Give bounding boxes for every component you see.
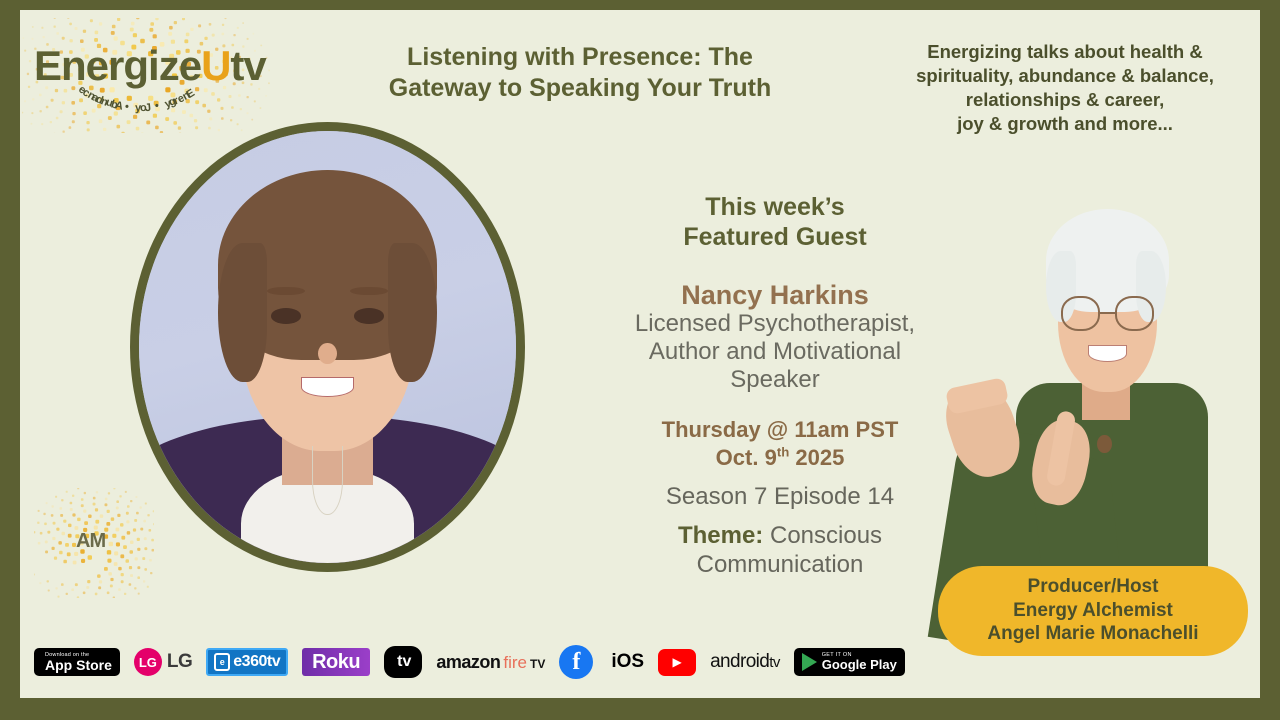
am-monogram-text: AM xyxy=(76,530,105,553)
host-smile xyxy=(1088,345,1127,361)
badge-roku[interactable]: Roku xyxy=(302,648,370,676)
roku-label: Roku xyxy=(302,648,370,676)
guest-role-line-3: Speaker xyxy=(570,366,980,394)
logo-text-u: U xyxy=(201,42,230,89)
e360tv-icon: e xyxy=(214,653,230,671)
air-time: Thursday @ 11am PST xyxy=(590,416,970,444)
host-lens-right xyxy=(1115,296,1154,331)
logo-text-tv: tv xyxy=(230,42,265,89)
ios-label: iOS xyxy=(611,651,644,673)
facebook-icon: f xyxy=(559,645,593,679)
portrait-smile xyxy=(301,377,354,396)
badge-android-tv[interactable]: androidtv xyxy=(710,651,780,673)
poster-canvas: EnergizeUtv Energy•Joy•Abundance Listeni… xyxy=(20,10,1260,698)
host-badge-line-1: Producer/Host xyxy=(950,575,1236,598)
host-lens-left xyxy=(1061,296,1100,331)
portrait-eye-right xyxy=(354,308,384,324)
portrait-brow-left xyxy=(267,287,305,296)
amazon-label: amazon xyxy=(436,652,500,673)
badge-e360tv[interactable]: e e360tv xyxy=(206,648,288,676)
air-date: Oct. 9th 2025 xyxy=(590,444,970,472)
portrait-brow-right xyxy=(350,287,388,296)
episode-theme: Theme: Conscious Communication xyxy=(575,522,985,580)
portrait-necklace xyxy=(312,446,342,515)
portrait-nose xyxy=(318,343,337,365)
air-date-year: 2025 xyxy=(789,445,844,470)
tagline-line-2: spirituality, abundance & balance, xyxy=(840,64,1260,88)
logo-tagline-arc: Energy•Joy•Abundance xyxy=(44,90,244,135)
google-play-main: Google Play xyxy=(822,658,897,672)
logo-tagline-letter: y xyxy=(135,102,141,114)
android-tv-label: tv xyxy=(769,654,779,671)
platform-badge-bar: Download on the App Store LG LG e e360tv… xyxy=(20,636,1260,688)
tagline-line-4: joy & growth and more... xyxy=(840,112,1260,136)
badge-lg[interactable]: LG LG xyxy=(134,648,192,676)
featured-guest-heading: This week’s Featured Guest xyxy=(605,193,945,252)
theme-label: Theme: xyxy=(678,522,763,549)
google-play-icon xyxy=(802,653,817,671)
lg-icon: LG xyxy=(134,648,162,676)
youtube-icon: ▶ xyxy=(658,649,696,676)
badge-amazon-fire-tv[interactable]: amazon fire TV xyxy=(436,652,545,673)
fire-label: fire xyxy=(503,653,527,673)
portrait-hair-left xyxy=(218,243,267,381)
android-label: android xyxy=(710,651,769,673)
theme-value-1: Conscious xyxy=(763,522,882,549)
logo-tagline-letter: • xyxy=(125,101,130,113)
air-date-ordinal: th xyxy=(777,444,789,459)
logo-wordmark: EnergizeUtv xyxy=(34,42,266,90)
headline-line-1: Listening with Presence: The xyxy=(320,42,840,73)
guest-name: Nancy Harkins xyxy=(595,280,955,311)
theme-first-line: Theme: Conscious xyxy=(575,522,985,551)
badge-google-play[interactable]: GET IT ON Google Play xyxy=(794,648,905,676)
portrait-hair-right xyxy=(388,243,437,381)
tagline-line-3: relationships & career, xyxy=(840,88,1260,112)
host-badge-line-2: Energy Alchemist xyxy=(950,599,1236,622)
air-date-day: Oct. 9 xyxy=(716,445,777,470)
badge-apple-tv[interactable]: tv xyxy=(384,646,422,678)
app-store-main: App Store xyxy=(45,658,112,673)
am-monogram-logo: AM xyxy=(34,488,154,598)
featured-line-1: This week’s xyxy=(605,193,945,223)
energizeutv-logo[interactable]: EnergizeUtv Energy•Joy•Abundance xyxy=(22,18,322,133)
lg-label: LG xyxy=(167,651,192,673)
host-pendant xyxy=(1097,435,1112,454)
guest-role-line-2: Author and Motivational xyxy=(570,338,980,366)
badge-app-store[interactable]: Download on the App Store xyxy=(34,648,120,677)
badge-youtube[interactable]: ▶ xyxy=(658,649,696,676)
badge-ios[interactable]: iOS xyxy=(607,651,644,673)
guest-role: Licensed Psychotherapist, Author and Mot… xyxy=(570,310,980,394)
headline-line-2: Gateway to Speaking Your Truth xyxy=(320,73,840,104)
logo-tagline-letter: • xyxy=(154,100,160,113)
portrait-eye-left xyxy=(271,308,301,324)
show-tagline: Energizing talks about health & spiritua… xyxy=(840,40,1260,136)
promo-poster: EnergizeUtv Energy•Joy•Abundance Listeni… xyxy=(0,0,1280,720)
air-datetime: Thursday @ 11am PST Oct. 9th 2025 xyxy=(590,416,970,471)
badge-facebook[interactable]: f xyxy=(559,645,593,679)
host-glasses-icon xyxy=(1061,296,1154,331)
featured-line-2: Featured Guest xyxy=(605,223,945,253)
fire-tv-label: TV xyxy=(530,657,545,671)
logo-text-energize: Energize xyxy=(34,42,201,89)
theme-value-2: Communication xyxy=(575,551,985,580)
host-glasses-bridge xyxy=(1100,312,1115,314)
episode-headline: Listening with Presence: The Gateway to … xyxy=(320,42,840,103)
guest-role-line-1: Licensed Psychotherapist, xyxy=(570,310,980,338)
apple-tv-label: tv xyxy=(397,653,411,671)
season-episode: Season 7 Episode 14 xyxy=(590,483,970,511)
tagline-line-1: Energizing talks about health & xyxy=(840,40,1260,64)
e360tv-label: e360tv xyxy=(233,653,280,671)
guest-portrait xyxy=(130,122,525,572)
